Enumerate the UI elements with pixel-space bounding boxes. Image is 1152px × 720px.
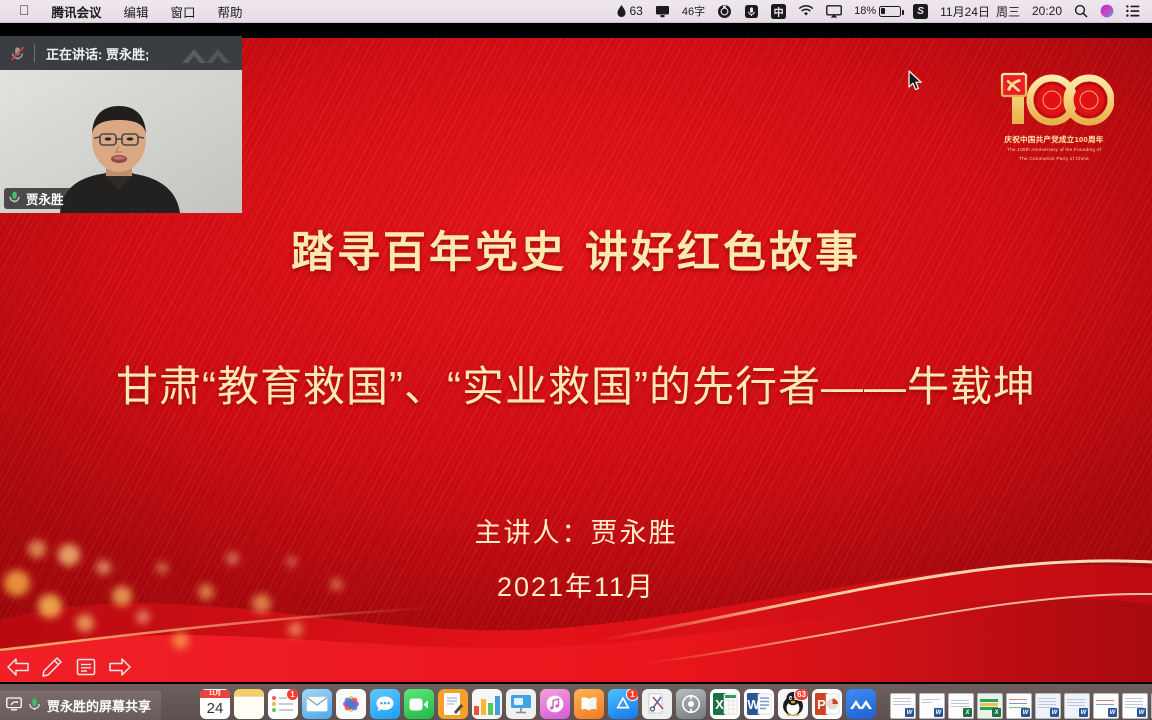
menu-item-edit[interactable]: 编辑 [113, 2, 160, 21]
macos-dock[interactable]: 11月 24 1 [0, 684, 1152, 720]
slide-decoration-ribbon [0, 532, 1152, 682]
sogou-label: S [913, 4, 928, 19]
speaker-video-panel[interactable]: 正在讲话: 贾永胜; [0, 36, 242, 213]
tencent-meeting-logo-icon [180, 42, 236, 70]
input-method-label: 中 [771, 4, 786, 19]
sogou-icon[interactable]: S [907, 4, 934, 19]
dock-icon-reminders[interactable]: 1 [268, 689, 298, 719]
dropbox-count: 63 [630, 4, 643, 18]
prev-slide-button[interactable] [6, 655, 30, 679]
menubar-date[interactable]: 11月24日 [934, 3, 996, 20]
dock-icon-books[interactable] [574, 689, 604, 719]
dock-minimized-windows[interactable]: W W X X W W W [890, 684, 1152, 720]
dock-icon-pages[interactable] [438, 689, 468, 719]
apple-logo-icon[interactable]:  [8, 3, 41, 17]
mouse-cursor [908, 70, 924, 97]
slide-subtitle: 甘肃“教育救国”、“实业救国”的先行者——牛载坤 [0, 353, 1152, 414]
search-icon[interactable] [1068, 4, 1094, 18]
dock-icon-app-store[interactable]: 1 [608, 689, 638, 719]
mic-muted-icon[interactable] [0, 45, 34, 62]
minimized-excel-window-1[interactable]: X [948, 693, 974, 719]
presenter-toolbar[interactable] [6, 655, 132, 679]
mic-icon[interactable] [738, 4, 765, 19]
calendar-day: 24 [207, 698, 224, 719]
siri-icon[interactable] [1094, 4, 1120, 18]
dock-icon-qq[interactable]: 63 [778, 689, 808, 719]
slide-title: 踏寻百年党史 讲好红色故事 [0, 218, 1152, 280]
participant-name-badge: 贾永胜 [4, 188, 72, 209]
control-center-icon[interactable] [1120, 5, 1146, 17]
cpc-100-anniversary-emblem: 庆祝中国共产党成立100周年 The 100th Anniversary of … [994, 66, 1114, 163]
share-label: 贾永胜的屏幕共享 [47, 696, 151, 715]
minimized-word-window-3[interactable]: W [1006, 693, 1032, 719]
dock-icon-mail[interactable] [302, 689, 332, 719]
screen-share-indicator[interactable]: 贾永胜的屏幕共享 [0, 691, 161, 720]
video-panel-header: 正在讲话: 贾永胜; [0, 36, 242, 70]
dock-icon-word[interactable]: W [744, 689, 774, 719]
cpc-100-anniversary-icon [994, 66, 1114, 132]
speaking-status-label: 正在讲话: 贾永胜; [35, 44, 149, 63]
minimized-word-window-1[interactable]: W [890, 693, 916, 719]
emblem-cn-text: 庆祝中国共产党成立100周年 [994, 134, 1114, 145]
reminders-badge: 1 [286, 689, 298, 701]
dock-icon-keynote[interactable] [506, 689, 536, 719]
dock-icon-notes[interactable] [234, 689, 264, 719]
menubar-weekday[interactable]: 周三 [996, 3, 1026, 20]
menu-item-window[interactable]: 窗口 [160, 2, 207, 21]
minimized-word-window-6[interactable]: W [1093, 693, 1119, 719]
slide-speaker: 主讲人：贾永胜 [0, 511, 1152, 550]
input-method-icon[interactable]: 中 [765, 4, 792, 19]
dock-icon-tencent-meeting[interactable] [846, 689, 876, 719]
airplay-icon[interactable] [820, 5, 848, 18]
minimized-word-window-5[interactable]: W [1064, 693, 1090, 719]
participant-video-feed[interactable]: 贾永胜 [0, 70, 242, 213]
notes-button[interactable] [74, 655, 98, 679]
display-icon[interactable] [649, 5, 676, 18]
dock-icon-facetime[interactable] [404, 689, 434, 719]
dock-icon-photos[interactable] [336, 689, 366, 719]
mic-on-icon [8, 190, 21, 207]
battery-percent: 18% [848, 5, 879, 17]
input-char-count[interactable]: 46字 [676, 3, 711, 19]
powerpoint-letter: P [817, 697, 826, 712]
screenshot-icon[interactable] [711, 4, 738, 19]
qq-badge: 63 [794, 689, 808, 701]
word-letter: W [747, 697, 760, 712]
screen: 庆祝中国共产党成立100周年 The 100th Anniversary of … [0, 0, 1152, 720]
next-slide-button[interactable] [108, 655, 132, 679]
dropbox-status[interactable]: 63 [610, 4, 649, 18]
emblem-en-line1: The 100th Anniversary of the Founding of [994, 147, 1114, 154]
battery-icon[interactable] [879, 6, 907, 17]
menu-app-name[interactable]: 腾讯会议 [41, 2, 113, 21]
excel-letter: X [715, 697, 724, 712]
annotate-button[interactable] [40, 655, 64, 679]
minimized-word-window-4[interactable]: W [1035, 693, 1061, 719]
dock-icon-preview[interactable] [642, 689, 672, 719]
dock-icon-messages[interactable] [370, 689, 400, 719]
menu-item-help[interactable]: 帮助 [207, 2, 254, 21]
participant-name: 贾永胜 [26, 189, 64, 208]
menubar-time[interactable]: 20:20 [1026, 4, 1068, 18]
minimized-excel-window-2[interactable]: X [977, 693, 1003, 719]
screen-share-icon [6, 697, 22, 714]
dock-icon-excel[interactable]: X [710, 689, 740, 719]
dock-icon-itunes[interactable] [540, 689, 570, 719]
calendar-month: 11月 [200, 690, 230, 698]
dock-icon-powerpoint[interactable]: P [812, 689, 842, 719]
slide-date: 2021年11月 [0, 565, 1152, 604]
wifi-icon[interactable] [792, 5, 820, 17]
macos-menubar:  腾讯会议 编辑 窗口 帮助 63 46字 [0, 0, 1152, 23]
dock-icon-calendar[interactable]: 11月 24 [200, 689, 230, 719]
dock-icon-system-preferences[interactable] [676, 689, 706, 719]
minimized-word-window-7[interactable]: W [1122, 693, 1148, 719]
minimized-word-window-2[interactable]: W [919, 693, 945, 719]
dock-icon-numbers[interactable] [472, 689, 502, 719]
app-store-badge: 1 [626, 689, 638, 701]
mic-on-icon[interactable] [28, 697, 41, 715]
emblem-en-line2: The Communist Party of China [994, 156, 1114, 163]
